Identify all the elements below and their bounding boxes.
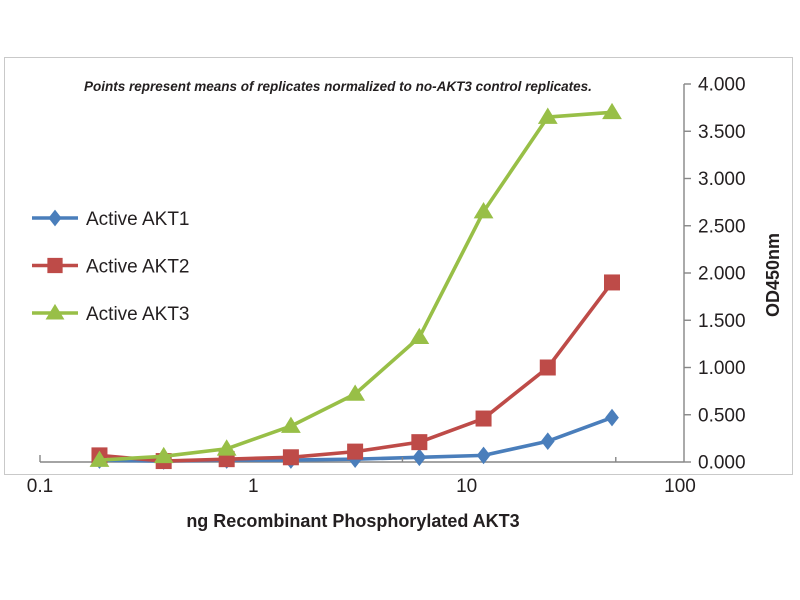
data-point-square [412,435,427,450]
x-tick-label: 0.1 [27,476,53,497]
series-line [99,112,612,460]
data-point-triangle [410,329,428,344]
y-tick-label: 0.000 [698,453,746,474]
data-point-square [48,258,62,272]
series-3 [90,104,621,467]
y-tick-label: 2.500 [698,216,746,237]
data-point-diamond [49,210,61,225]
chart-series [90,104,621,469]
legend-item-1[interactable]: Active AKT1 [32,209,190,230]
legend-label: Active AKT3 [86,304,190,325]
data-point-diamond [606,410,618,426]
data-point-triangle [282,418,300,433]
data-point-diamond [542,433,554,449]
legend-item-3[interactable]: Active AKT3 [32,304,190,325]
chart-canvas: Points represent means of replicates nor… [0,0,800,600]
x-axis-ticks: 0.1110100 [27,457,696,497]
x-axis-title-text: ng Recombinant Phosphorylated AKT3 [186,511,519,531]
y-axis-title: OD450nm [763,233,783,317]
chart-figure: Points represent means of replicates nor… [0,0,800,600]
legend-label: Active AKT1 [86,209,190,230]
chart-subtitle-text: Points represent means of replicates nor… [84,79,592,94]
x-tick-label: 1 [248,476,259,497]
y-tick-label: 0.500 [698,405,746,426]
y-tick-label: 3.500 [698,122,746,143]
chart-legend: Active AKT1Active AKT2Active AKT3 [32,209,190,325]
legend-label: Active AKT2 [86,257,190,278]
data-point-square [604,275,619,290]
data-point-square [540,360,555,375]
x-tick-label: 10 [456,476,477,497]
legend-item-2[interactable]: Active AKT2 [32,257,190,278]
y-tick-label: 1.000 [698,358,746,379]
data-point-diamond [413,449,425,465]
y-tick-label: 3.000 [698,169,746,190]
x-axis-title: ng Recombinant Phosphorylated AKT3 [186,511,519,531]
y-tick-label: 1.500 [698,311,746,332]
y-tick-label: 2.000 [698,264,746,285]
y-tick-label: 4.000 [698,75,746,96]
data-point-diamond [477,447,489,463]
data-point-square [348,444,363,459]
data-point-square [476,411,491,426]
x-tick-label: 100 [664,476,696,497]
y-axis-ticks: 4.0003.5003.0002.5002.0001.5001.0000.500… [684,75,746,474]
chart-subtitle: Points represent means of replicates nor… [84,79,592,94]
y-axis-title-text: OD450nm [763,233,783,317]
data-point-square [283,450,298,465]
